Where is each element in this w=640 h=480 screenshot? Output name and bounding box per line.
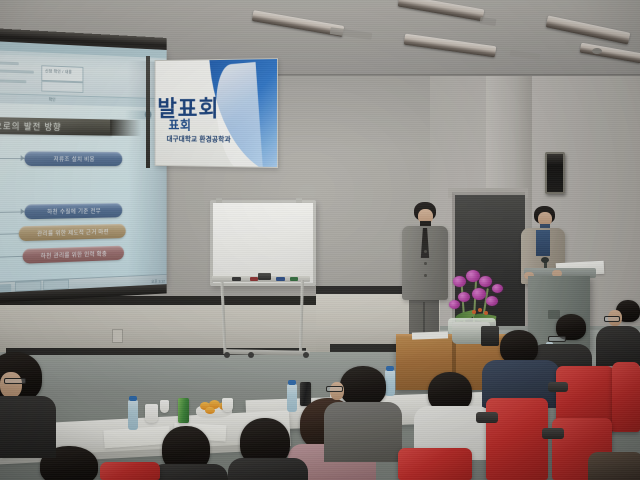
speaker-inner-shirt: [536, 230, 550, 256]
audience-shoulders: [0, 396, 56, 458]
orchid-berry: [478, 308, 482, 312]
form-label-line: [0, 79, 26, 83]
presentation-slide: 으로의 발전 방향 저류조 설치 비용 하천 수질에 기준 전무 관리를 위한 …: [0, 103, 167, 283]
slide-title-bar: 으로의 발전 방향: [0, 117, 112, 136]
eyeglasses-icon: [548, 336, 566, 342]
whiteboard-clip: [296, 198, 302, 203]
audience-face: [0, 372, 22, 398]
event-banner: 발표회 표회 대구대학교 환경공학과: [155, 58, 278, 168]
whiteboard-clip: [216, 198, 222, 203]
orange-fruit: [205, 407, 215, 414]
paper-on-platform: [412, 331, 448, 339]
fur-collar: [588, 452, 640, 480]
slide-title: 으로의 발전 방향: [0, 119, 62, 133]
paper-cup: [145, 404, 158, 423]
form-footer-text: 확인: [49, 97, 56, 103]
projected-image: 신청 확인 / 내용 확인 으로의 발전 방향: [0, 41, 167, 295]
audience-head: [500, 330, 538, 364]
beverage-can: [178, 398, 189, 423]
smoke-detector-icon: [592, 48, 602, 54]
orchid-bloom: [466, 270, 480, 282]
water-bottle: [287, 384, 297, 412]
eyeglasses-icon: [604, 316, 620, 322]
auditorium-seat[interactable]: [486, 398, 548, 480]
whiteboard-caster: [303, 352, 309, 358]
orchid-bloom: [472, 288, 486, 300]
orchid-bloom: [479, 276, 492, 287]
orchid-bloom: [453, 276, 466, 287]
slide-box: 하천 관리를 위한 인력 확충: [23, 246, 124, 264]
auditorium-seat[interactable]: [398, 448, 472, 480]
bottle-cap: [129, 396, 137, 401]
whiteboard-marker: [232, 277, 241, 281]
slide-box: 관리를 위한 제도적 근거 마련: [19, 224, 126, 241]
whiteboard-eraser: [258, 273, 271, 280]
seat-armrest: [476, 412, 498, 423]
banner-frame: [146, 56, 150, 168]
form-input-field[interactable]: [41, 81, 83, 93]
eyeglasses-icon: [326, 386, 343, 392]
bottle-cap: [386, 366, 394, 371]
coat-button: [424, 250, 427, 253]
whiteboard-marker: [276, 277, 285, 281]
flow-connector: [0, 233, 19, 235]
form-label-line: [0, 61, 19, 65]
audience-head: [340, 366, 386, 406]
whiteboard-marker: [250, 277, 258, 281]
audience-shoulders: [228, 458, 308, 480]
water-bottle: [385, 370, 395, 396]
podium-emblem: [548, 310, 560, 319]
paper-cup: [160, 400, 169, 413]
banner-affiliation: 대구대학교 환경공학과: [167, 134, 231, 144]
orchid-berry: [472, 310, 476, 314]
orchid-bloom: [449, 300, 460, 309]
orchid-bloom: [458, 292, 470, 302]
projected-desktop: 신청 확인 / 내용 확인: [0, 41, 167, 109]
audience-shoulders: [324, 402, 402, 462]
bottle-cap: [288, 380, 296, 385]
auditorium-seat[interactable]: [100, 462, 160, 480]
coat-button: [424, 274, 427, 277]
coat-button: [424, 262, 427, 265]
audience-shoulders: [596, 326, 640, 366]
whiteboard-caster: [224, 352, 230, 358]
whiteboard-caster: [248, 352, 254, 358]
audience-shoulders: [150, 464, 228, 480]
banner-swoosh-graphic: [213, 62, 263, 168]
seat-armrest: [542, 428, 564, 439]
seat-armrest: [548, 382, 568, 392]
microphone-icon: [541, 257, 549, 263]
banner-subtitle: 표회: [168, 115, 191, 133]
photo-scene: 신청 확인 / 내용 확인 으로의 발전 방향: [0, 0, 640, 480]
wall-outlet-icon: [112, 329, 123, 343]
form-field-text: 신청 확인 / 내용: [45, 68, 72, 75]
orchid-bloom: [492, 284, 503, 293]
flow-connector: [0, 256, 23, 258]
whiteboard-marker: [290, 277, 298, 281]
eyeglasses-icon: [4, 378, 26, 384]
orchid-berry: [484, 311, 488, 315]
slide-box: 하천 수질에 기준 전무: [24, 203, 122, 219]
flower-pot: [481, 326, 499, 346]
orchid-bloom: [486, 296, 498, 306]
paper-cup: [222, 398, 233, 412]
auditorium-seat[interactable]: [612, 362, 640, 432]
form-label-line: [0, 69, 34, 74]
slide-title-fade: [110, 119, 141, 136]
wall-speaker-icon: [545, 152, 565, 194]
slide-box: 저류조 설치 비용: [24, 151, 122, 166]
water-bottle: [128, 400, 138, 430]
projection-screen: 신청 확인 / 내용 확인 으로의 발전 방향: [0, 28, 167, 308]
